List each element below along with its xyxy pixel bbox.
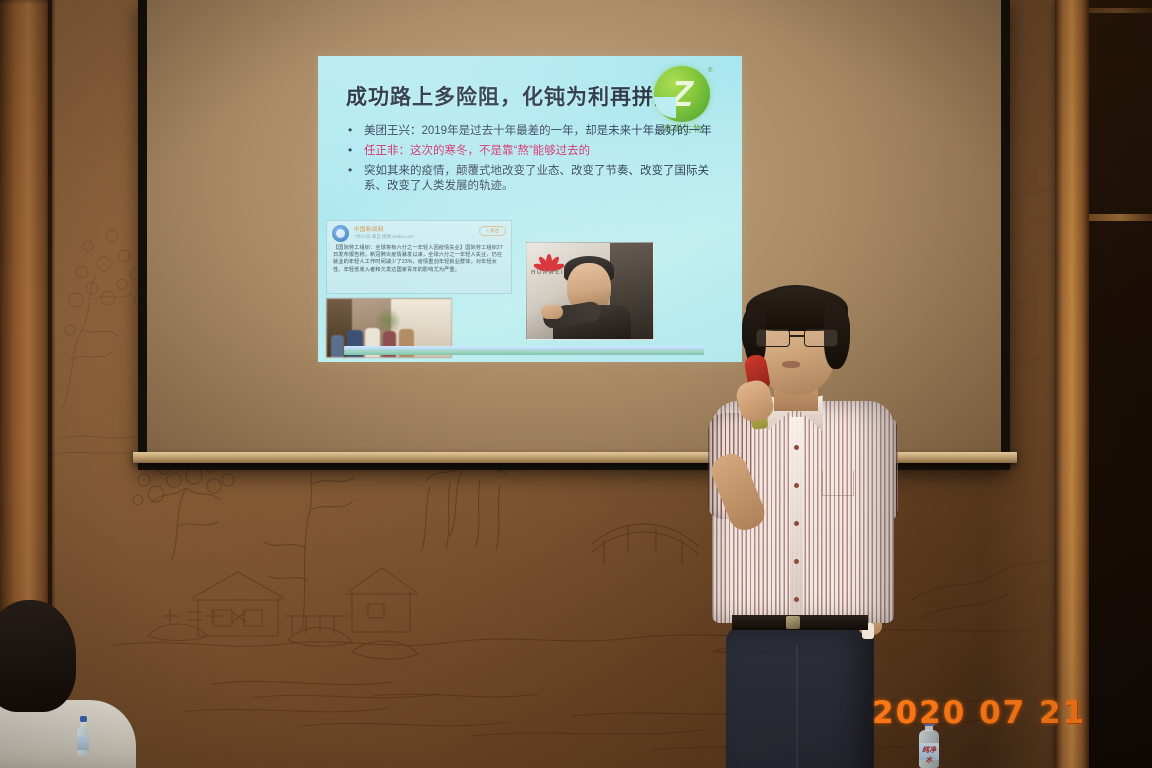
presenter-shirt-button (794, 559, 799, 564)
presentation-slide: 成功路上多险阻，化钝为利再拼搏 Z ® 真奥生物 美团王兴：2019年是过去十年… (318, 56, 742, 362)
water-bottle-left (76, 716, 90, 756)
presenter-eyeglasses-icon (754, 329, 842, 345)
presenter-mouth (782, 361, 800, 368)
dark-alcove (1089, 0, 1152, 768)
bottle-label-text: 纯净水 (919, 745, 939, 765)
presenter-shirt-button (794, 521, 799, 526)
slide-bullet: 突如其来的疫情，颠覆式地改变了业态、改变了节奏、改变了国际关系、改变了人类发展的… (342, 164, 722, 194)
alcove-shelf (1089, 214, 1152, 221)
presenter-trouser-seam (796, 645, 798, 768)
presenter-shirt-pocket (822, 471, 854, 496)
slide-bullet: 任正非：这次的寒冬，不是靠“熬”能够过去的 (342, 144, 722, 159)
slide-bullet-list: 美团王兴：2019年是过去十年最差的一年，却是未来十年最好的一年 任正非：这次的… (342, 124, 722, 199)
photo-plant (374, 308, 401, 330)
presenter-belt (732, 615, 868, 630)
bottle-label: 纯净水 (919, 743, 939, 760)
weibo-post-meta: 7月27日 来自 微博 weibo.com (354, 234, 414, 240)
right-wooden-column (1055, 0, 1089, 768)
audience-member-head (0, 600, 76, 712)
huawei-wordmark: HUAWEI (531, 270, 564, 276)
slide-decor-bar-lower (344, 351, 704, 355)
weibo-account-name: 中国新闻网 (354, 225, 384, 233)
slide-title: 成功路上多险阻，化钝为利再拼搏 (346, 81, 666, 111)
logo-notch (654, 97, 676, 118)
slide-bullet: 美团王兴：2019年是过去十年最差的一年，却是未来十年最好的一年 (342, 124, 722, 139)
presenter-shirt-button (794, 597, 799, 602)
weibo-avatar (332, 225, 349, 242)
photograph-scene: 成功路上多险阻，化钝为利再拼搏 Z ® 真奥生物 美团王兴：2019年是过去十年… (0, 0, 1152, 768)
camera-date-stamp: 2020 07 21 (872, 695, 1086, 731)
presenter-trousers (726, 627, 874, 768)
weibo-post-body: 【国际劳工组织：全球将有六分之一年轻人因疫情失业】国际劳工组织27日发布报告称，… (333, 245, 505, 274)
presenter-shirt-button (794, 483, 799, 488)
alcove-upper-trim (1089, 8, 1152, 13)
photo-person-hand (541, 305, 563, 319)
logo-trademark-icon: ® (708, 68, 712, 74)
slide-photo-huawei-interview: HUAWEI (526, 242, 654, 340)
weibo-follow-button: + 关注 (479, 226, 506, 236)
eyeglass-lens-left (756, 329, 790, 347)
eyeglass-bridge (789, 335, 805, 337)
presenter-shirt-button (794, 445, 799, 450)
eyeglass-lens-right (804, 329, 838, 347)
presenter-belt-buckle (786, 616, 800, 629)
bottle-label (77, 736, 90, 750)
photo-person (331, 335, 345, 357)
weibo-post-screenshot: 中国新闻网 7月27日 来自 微博 weibo.com + 关注 【国际劳工组织… (326, 220, 512, 294)
